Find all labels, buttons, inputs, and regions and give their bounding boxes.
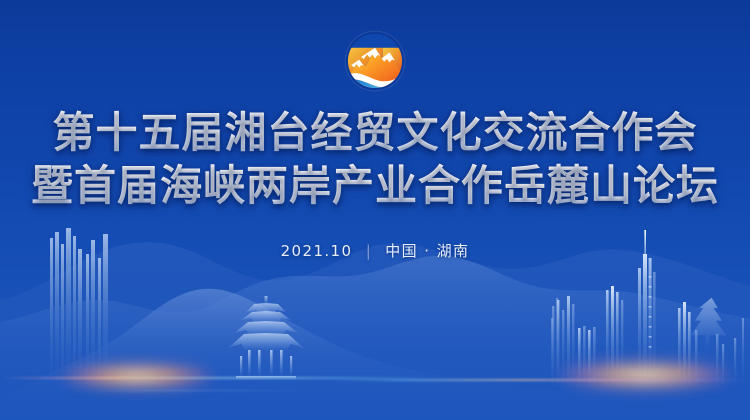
event-subtitle: 2021.10 | 中国 · 湖南 (0, 240, 750, 261)
subtitle-separator: | (366, 242, 372, 260)
event-title-line1: 第十五届湘台经贸文化交流合作会 (0, 108, 750, 161)
conference-banner: 第十五届湘台经贸文化交流合作会 暨首届海峡两岸产业合作岳麓山论坛 2021.10… (0, 0, 750, 420)
event-location: 中国 · 湖南 (385, 242, 469, 260)
event-logo (342, 28, 408, 94)
event-title: 第十五届湘台经贸文化交流合作会 暨首届海峡两岸产业合作岳麓山论坛 (0, 108, 750, 214)
mountain-water-emblem-icon (342, 28, 408, 94)
event-title-line2: 暨首届海峡两岸产业合作岳麓山论坛 (0, 161, 750, 214)
dotted-wave-pattern (0, 340, 310, 420)
event-date: 2021.10 (281, 242, 353, 260)
